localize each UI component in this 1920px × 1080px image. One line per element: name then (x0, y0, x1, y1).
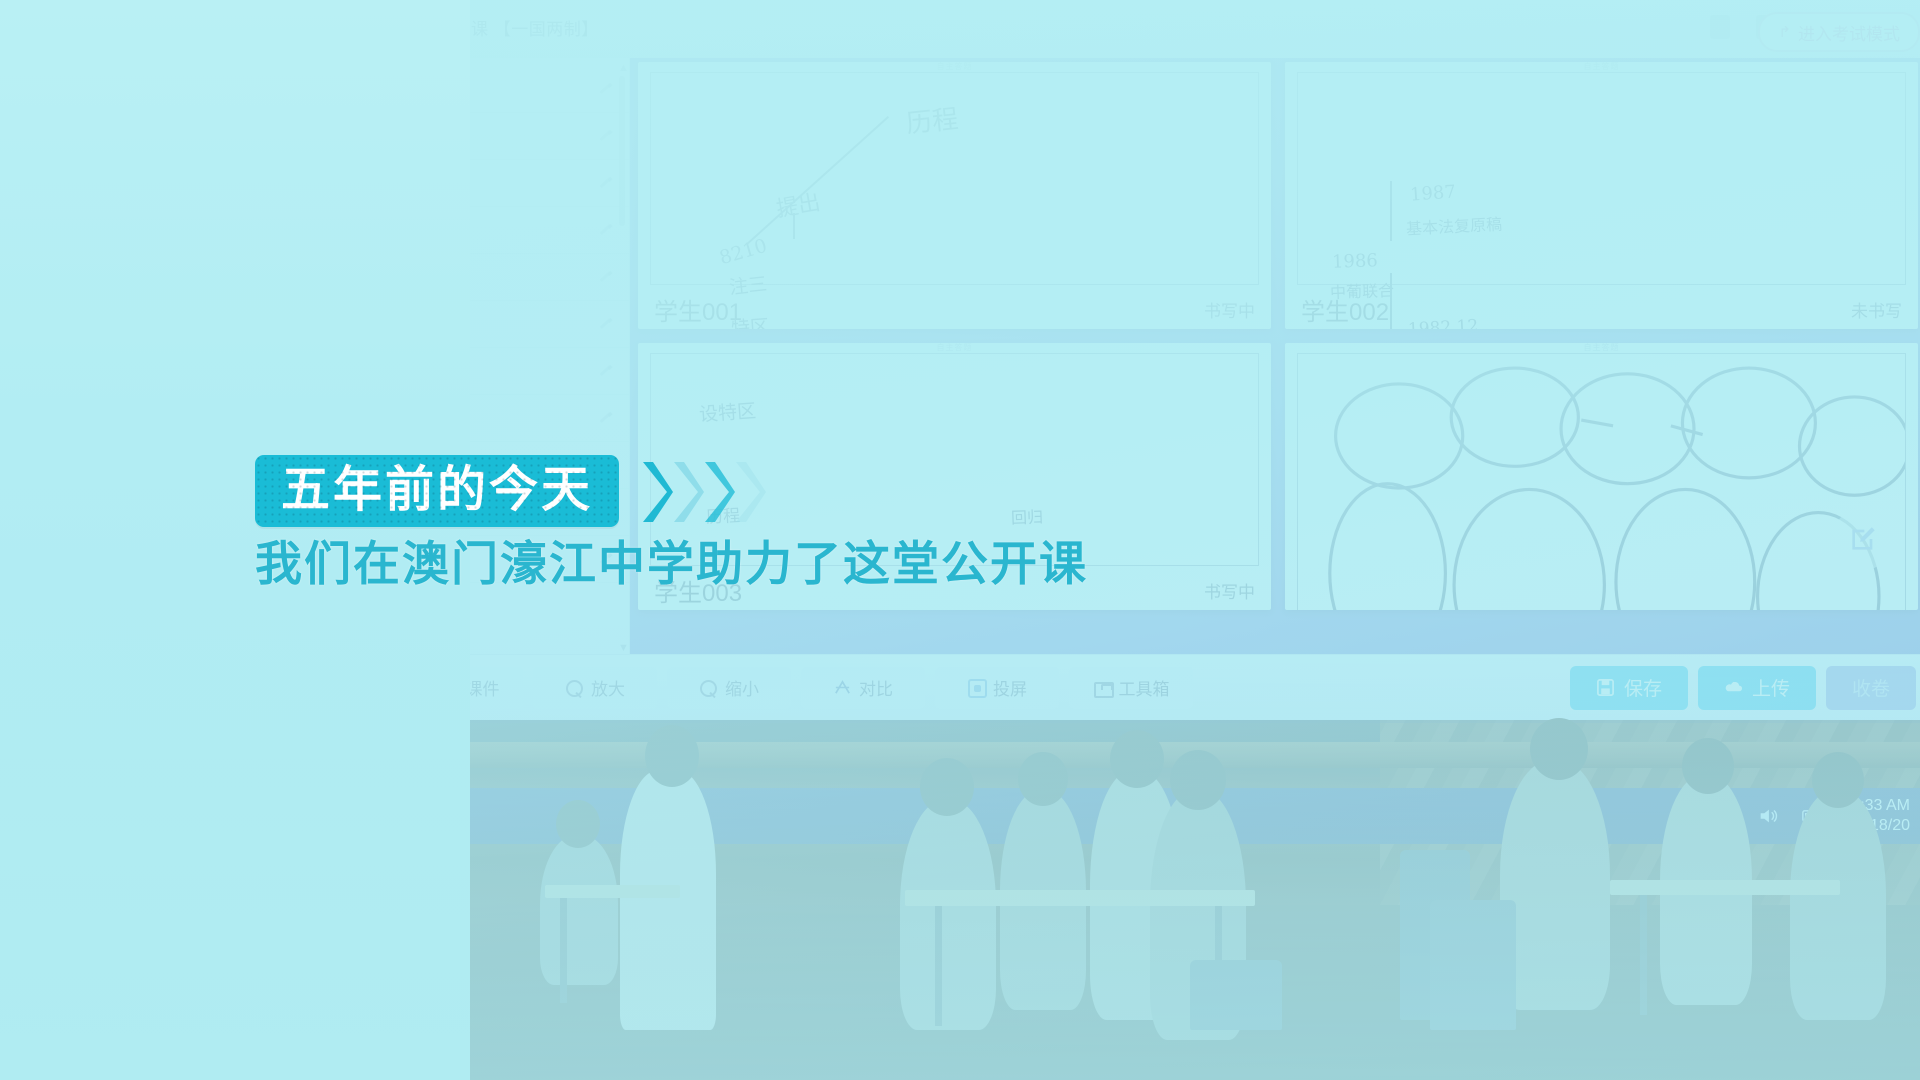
edit-pencil-icon[interactable] (598, 83, 611, 96)
page-list-item-label: 第03页 (409, 171, 459, 195)
student-center-2-head (1018, 752, 1068, 806)
toolbar-zoom-out-button[interactable]: 缩小 (667, 667, 791, 709)
toolbar-cast-button[interactable]: 投屏 (935, 667, 1059, 709)
chair-right-2 (1430, 900, 1516, 1030)
page-list-item-label: 第02页 (409, 124, 459, 148)
handwriting-stroke: 1987 (1409, 181, 1456, 205)
teacher-head (645, 725, 699, 787)
handwriting-stroke: 基本法复原稿 (1405, 211, 1502, 240)
scroll-down-icon[interactable]: ▼ (618, 642, 629, 654)
edit-pencil-icon[interactable] (598, 130, 611, 143)
edit-pencil-icon (1847, 523, 1879, 555)
toolbar-button-label: 缩小 (725, 675, 759, 700)
edit-pencil-icon[interactable] (598, 412, 611, 425)
chevron-right-icon (672, 460, 702, 522)
toolbox-icon (1093, 678, 1112, 697)
handwriting-stroke: 1986 (1332, 250, 1379, 273)
board-status-badge: 书写中 (1204, 578, 1255, 603)
edit-pencil-icon[interactable] (598, 224, 611, 237)
enter-exam-mode-button[interactable]: ↱ 进入考试模式 (1758, 12, 1920, 52)
desk-left (545, 885, 680, 898)
board-status-badge: 未书写 (1851, 297, 1902, 322)
handwriting-stroke: 提出 (774, 184, 823, 223)
desk-left-leg (560, 898, 567, 1003)
chair-center (1190, 960, 1282, 1030)
board-watermark: 自主答题 (1584, 62, 1620, 72)
toolbar-button-label: 投屏 (993, 675, 1027, 700)
caption-block: 五年前的今天 我们在澳门濠江中学助力了这堂公开课 (255, 455, 1088, 588)
handwriting-stroke: 中葡联合 (1330, 277, 1395, 303)
page-list-item[interactable]: 第06页 (385, 301, 629, 348)
page-list-item-label: 第06页 (409, 312, 459, 336)
page-list-item[interactable]: 第02页 (385, 113, 629, 160)
student-right-2-head (1682, 738, 1734, 794)
board-status-badge: 书写中 (1204, 297, 1255, 322)
handwriting-axis (1390, 273, 1392, 329)
desk-right (1610, 880, 1840, 895)
student-board-card[interactable]: 自主答题学生004书写中 (1285, 343, 1918, 610)
compare-icon (833, 678, 852, 697)
board-canvas[interactable]: 自主答题 (1297, 353, 1906, 610)
file-icon (423, 678, 442, 697)
volume-icon[interactable] (1756, 805, 1780, 827)
student-center-1 (900, 800, 996, 1030)
handwriting-stroke: 设特区 (698, 396, 757, 427)
collect-papers-button[interactable]: 收卷 (1826, 666, 1916, 710)
page-list-item-label: 第01页 (409, 77, 459, 101)
screenshot-root: 高一历史课 【一国两制】 ↱ 进入考试模式 第01页 (0, 0, 1920, 1080)
save-label: 保存 (1624, 674, 1662, 701)
page-list-item[interactable]: 第01页 (385, 66, 629, 113)
student-board-card[interactable]: 自主答题1987基本法复原稿1986中葡联合1982 12五五 行政区学生002… (1285, 62, 1918, 329)
chevron-right-icon (734, 460, 764, 522)
page-list-item-label: 第08页 (409, 406, 459, 430)
toolbar-button-label: 放大 (591, 675, 625, 700)
chevron-right-icon (641, 460, 671, 522)
handwriting-stroke: 特区 (730, 312, 770, 329)
toolbar-button-label: 对比 (859, 675, 893, 700)
teacher-standing (620, 770, 716, 1030)
caption-subtitle: 我们在澳门濠江中学助力了这堂公开课 (255, 541, 1088, 588)
app-header: 高一历史课 【一国两制】 (385, 0, 1920, 58)
handwriting-stroke: 历程 (904, 98, 960, 140)
handwriting-stroke: 注三 (728, 269, 769, 300)
page-list-item[interactable]: 第03页 (385, 160, 629, 207)
handwriting-stroke: 8210 (717, 235, 770, 269)
student-right-3 (1790, 790, 1886, 1020)
edit-pencil-icon[interactable] (598, 177, 611, 190)
edit-pencil-icon[interactable] (598, 271, 611, 284)
student-right-1 (1500, 760, 1610, 1010)
toolbar-button-label: 工具箱 (1119, 675, 1170, 700)
enter-exam-mode-label: 进入考试模式 (1798, 20, 1900, 45)
desk-right-leg-1 (1640, 895, 1647, 1015)
chevron-right-icon (703, 460, 733, 522)
taskbar-app-pink-icon[interactable] (70, 799, 104, 833)
upload-cloud-icon (1724, 678, 1743, 697)
board-canvas[interactable]: 自主答题历程提出8210注三特区 (650, 72, 1259, 285)
student-left-1-head (556, 800, 600, 848)
edit-pencil-icon[interactable] (598, 318, 611, 331)
student-center-1-head (920, 758, 974, 816)
taskbar-app-blue-icon[interactable] (10, 799, 44, 833)
edit-fab-button[interactable] (1832, 508, 1894, 570)
collect-papers-label: 收卷 (1852, 674, 1890, 701)
taskbar-wps-writer-icon[interactable]: W (130, 799, 164, 833)
projector-screen: 高一历史课 【一国两制】 ↱ 进入考试模式 第01页 (385, 0, 1920, 720)
handwriting-bubble-diagram (1298, 354, 1905, 610)
student-right-3-head (1812, 752, 1864, 808)
edit-pencil-icon[interactable] (598, 365, 611, 378)
header-icon-1[interactable] (1710, 15, 1730, 39)
bottom-toolbar: 开课件放大缩小对比投屏工具箱 保存 上传 (385, 654, 1920, 720)
chevron-arrow-group (641, 460, 764, 522)
upload-button[interactable]: 上传 (1698, 666, 1816, 710)
student-board-card[interactable]: 自主答题历程提出8210注三特区学生001书写中 (638, 62, 1271, 329)
desk-center (905, 890, 1255, 906)
cast-icon (967, 678, 986, 697)
save-button[interactable]: 保存 (1570, 666, 1688, 710)
enter-arrow-icon: ↱ (1778, 23, 1791, 41)
board-watermark: 自主答题 (937, 343, 973, 353)
desk-center-leg-1 (935, 906, 942, 1026)
handwriting-line (746, 116, 888, 244)
handwriting-tick (793, 213, 795, 239)
board-watermark: 自主答题 (937, 62, 973, 72)
upload-label: 上传 (1752, 674, 1790, 701)
page-list-item[interactable]: 第08页 (385, 395, 629, 442)
board-canvas[interactable]: 自主答题1987基本法复原稿1986中葡联合1982 12五五 行政区 (1297, 72, 1906, 285)
zoom-out-icon (699, 678, 718, 697)
page-list-item[interactable]: 第04页 (385, 207, 629, 254)
page-title: 高一历史课 【一国两制】 (401, 15, 599, 40)
student-center-3-head (1110, 730, 1164, 788)
page-list-item-label: 第07页 (409, 359, 459, 383)
zoom-in-icon (565, 678, 584, 697)
toolbar-button-label: 开课件 (449, 675, 500, 700)
page-list-item[interactable]: 第05页 (385, 254, 629, 301)
toolbar-toolbox-button[interactable]: 工具箱 (1069, 667, 1193, 709)
scroll-up-icon[interactable]: ▲ (618, 62, 629, 74)
caption-badge: 五年前的今天 (255, 455, 619, 527)
toolbar-zoom-in-button[interactable]: 放大 (533, 667, 657, 709)
toolbar-file-button[interactable]: 开课件 (399, 667, 523, 709)
page-list-item[interactable]: 第07页 (385, 348, 629, 395)
page-list-item-label: 第04页 (409, 218, 459, 242)
student-center-4-head (1170, 750, 1226, 810)
student-left-1 (540, 835, 618, 985)
save-disk-icon (1596, 678, 1615, 697)
student-right-1-head (1530, 718, 1588, 780)
scrollbar-thumb[interactable] (619, 76, 625, 226)
board-watermark: 自主答题 (1584, 343, 1620, 353)
page-list-item-label: 第05页 (409, 265, 459, 289)
student-name-label: 学生001 (654, 292, 742, 327)
handwriting-axis (1390, 181, 1392, 241)
toolbar-compare-button[interactable]: 对比 (801, 667, 925, 709)
